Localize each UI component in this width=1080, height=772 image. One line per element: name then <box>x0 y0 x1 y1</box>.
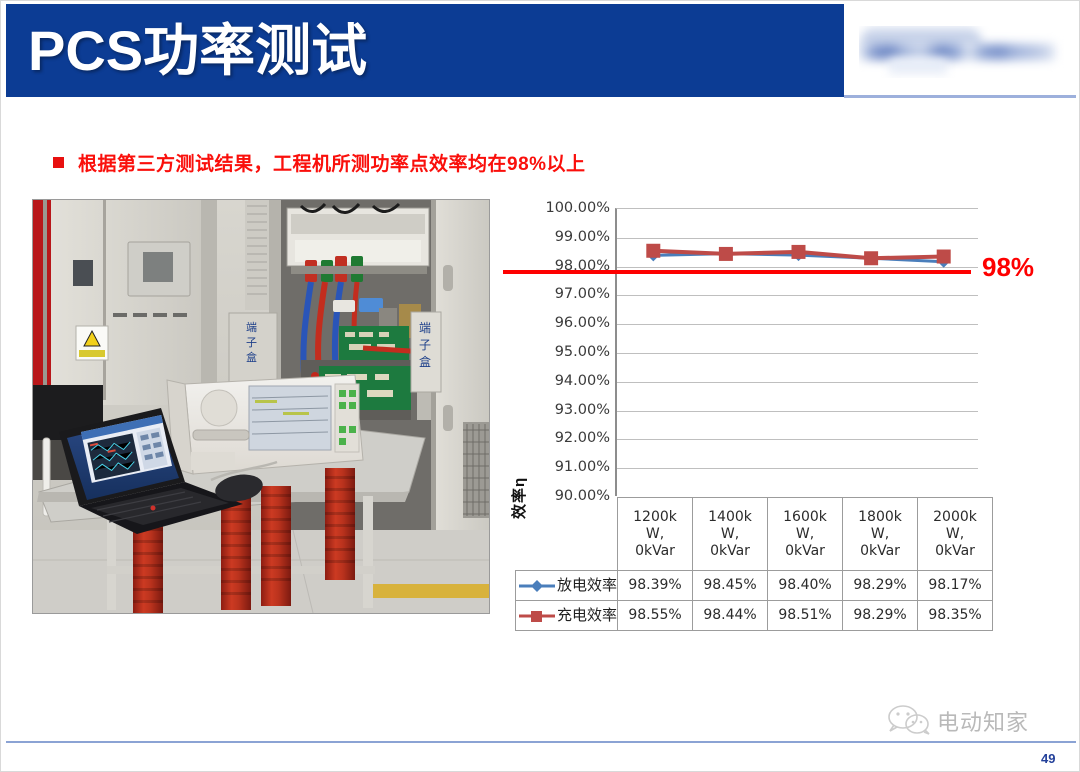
y-axis-tick: 96.00% <box>528 316 610 330</box>
bullet-text: 根据第三方测试结果，工程机所测功率点效率均在98%以上 <box>78 149 586 176</box>
y-axis-tick: 99.00% <box>528 230 610 244</box>
efficiency-chart: 效率η 100.00%99.00%98.00%97.00%96.00%95.00… <box>506 201 1066 621</box>
table-cell: 98.39% <box>618 571 693 601</box>
svg-text:盒: 盒 <box>246 350 257 364</box>
footer-divider <box>6 741 1076 743</box>
cat-line: W, <box>770 526 840 543</box>
cat-line: 1600k <box>770 509 840 526</box>
legend-label: 充电效率 <box>557 607 617 624</box>
cat-line: 2000k <box>920 509 990 526</box>
cat-line: W, <box>620 526 690 543</box>
table-cell: 98.51% <box>768 601 843 631</box>
plot-area <box>615 208 978 496</box>
y-axis-tick-labels: 100.00%99.00%98.00%97.00%96.00%95.00%94.… <box>528 201 610 501</box>
table-header-cell: 1800k W, 0kVar <box>843 498 918 571</box>
table-row: 充电效率 98.55% 98.44% 98.51% 98.29% 98.35% <box>516 601 993 631</box>
square-bullet-icon <box>53 157 64 168</box>
table-cell: 98.55% <box>618 601 693 631</box>
chart-data-table: 1200k W, 0kVar 1400k W, 0kVar 1600k W, 0… <box>515 497 993 631</box>
y-axis-tick: 97.00% <box>528 287 610 301</box>
table-cell: 98.40% <box>768 571 843 601</box>
cat-line: W, <box>695 526 765 543</box>
table-header-cell: 1400k W, 0kVar <box>693 498 768 571</box>
data-point-marker <box>646 244 660 258</box>
svg-text:子: 子 <box>246 336 257 349</box>
y-axis-tick: 100.00% <box>528 201 610 215</box>
header-bar: PCS功率测试 <box>6 4 844 97</box>
table-cell: 98.35% <box>918 601 993 631</box>
y-axis-tick: 94.00% <box>528 374 610 388</box>
cat-line: 0kVar <box>845 543 915 560</box>
table-row-categories: 1200k W, 0kVar 1400k W, 0kVar 1600k W, 0… <box>516 498 993 571</box>
table-row: 放电效率 98.39% 98.45% 98.40% 98.29% 98.17% <box>516 571 993 601</box>
legend-diamond-marker-icon <box>518 578 556 594</box>
threshold-label: 98% <box>982 252 1034 283</box>
wechat-account-name: 电动知家 <box>937 705 1029 737</box>
legend-cell-charge[interactable]: 充电效率 <box>516 601 618 631</box>
legend-square-marker-icon <box>518 608 556 624</box>
legend-label: 放电效率 <box>557 577 617 594</box>
redacted-logo-icon <box>859 26 1064 78</box>
header-underline-divider <box>844 95 1076 98</box>
cat-line: 1400k <box>695 509 765 526</box>
table-header-cell: 2000k W, 0kVar <box>918 498 993 571</box>
data-point-marker <box>864 251 878 265</box>
header-logo-area <box>844 4 1076 97</box>
y-axis-tick: 93.00% <box>528 403 610 417</box>
svg-text:子: 子 <box>419 338 431 352</box>
test-bench-photo: 端 子 盒 <box>32 199 490 614</box>
cat-line: 1800k <box>845 509 915 526</box>
cat-line: 1200k <box>620 509 690 526</box>
svg-text:盒: 盒 <box>419 354 431 369</box>
table-cell: 98.45% <box>693 571 768 601</box>
y-axis-tick: 91.00% <box>528 460 610 474</box>
table-header-cell: 1200k W, 0kVar <box>618 498 693 571</box>
cat-line: 0kVar <box>695 543 765 560</box>
table-cell: 98.29% <box>843 571 918 601</box>
y-axis-tick: 92.00% <box>528 431 610 445</box>
data-point-marker <box>792 245 806 259</box>
table-header-cell: 1600k W, 0kVar <box>768 498 843 571</box>
y-axis-tick: 95.00% <box>528 345 610 359</box>
page-title: PCS功率测试 <box>28 12 367 90</box>
wechat-icon <box>887 705 933 735</box>
cat-line: W, <box>920 526 990 543</box>
series-layer <box>617 209 980 497</box>
svg-text:端: 端 <box>246 321 257 334</box>
page-number: 49 <box>1041 751 1055 766</box>
cat-line: 0kVar <box>920 543 990 560</box>
cat-line: 0kVar <box>770 543 840 560</box>
cat-line: 0kVar <box>620 543 690 560</box>
table-cell: 98.44% <box>693 601 768 631</box>
cat-line: W, <box>845 526 915 543</box>
legend-cell-discharge[interactable]: 放电效率 <box>516 571 618 601</box>
data-point-marker <box>937 250 951 264</box>
slide-root: PCS功率测试 根据第三方测试结果，工程机所测功率点效率均在98%以上 <box>0 0 1080 772</box>
data-point-marker <box>719 247 733 261</box>
svg-text:端: 端 <box>419 321 431 335</box>
table-cell: 98.29% <box>843 601 918 631</box>
table-corner-cell <box>516 498 618 571</box>
bullet-row: 根据第三方测试结果，工程机所测功率点效率均在98%以上 <box>53 149 586 176</box>
threshold-line-icon <box>503 270 971 274</box>
table-cell: 98.17% <box>918 571 993 601</box>
